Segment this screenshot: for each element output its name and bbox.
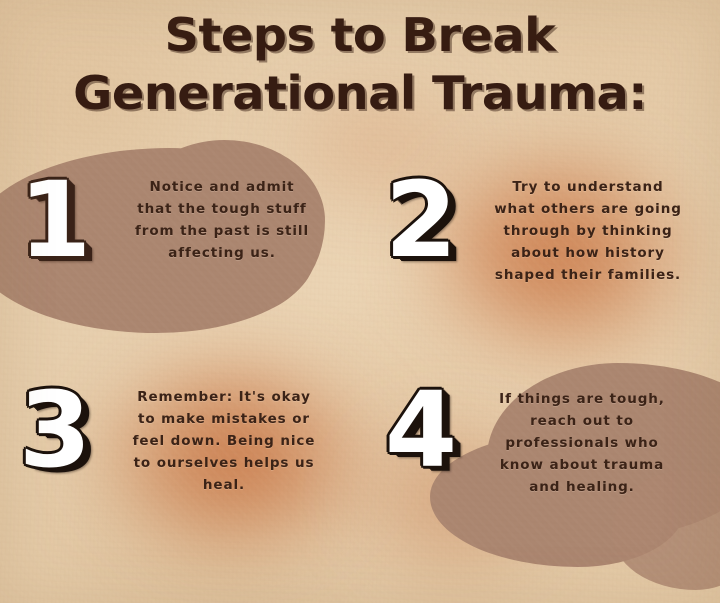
step-item-4: 4 If things are tough, reach out to prof… xyxy=(374,378,716,498)
step-number-3: 3 xyxy=(8,378,100,482)
step-text-1: Notice and admit that the tough stuff fr… xyxy=(100,168,356,264)
step-item-1: 1 Notice and admit that the tough stuff … xyxy=(8,168,356,272)
step-text-2: Try to understand what others are going … xyxy=(466,168,716,286)
step-item-3: 3 Remember: It's okay to make mistakes o… xyxy=(8,378,356,496)
step-text-4: If things are tough, reach out to profes… xyxy=(466,378,716,498)
step-number-2: 2 xyxy=(374,168,466,272)
step-number-1: 1 xyxy=(8,168,100,272)
step-number-4: 4 xyxy=(374,378,466,482)
step-text-3: Remember: It's okay to make mistakes or … xyxy=(100,378,356,496)
step-item-2: 2 Try to understand what others are goin… xyxy=(374,168,716,286)
infographic-poster: Steps to Break Generational Trauma: 1 No… xyxy=(0,0,720,603)
steps-grid: 1 Notice and admit that the tough stuff … xyxy=(0,0,720,603)
